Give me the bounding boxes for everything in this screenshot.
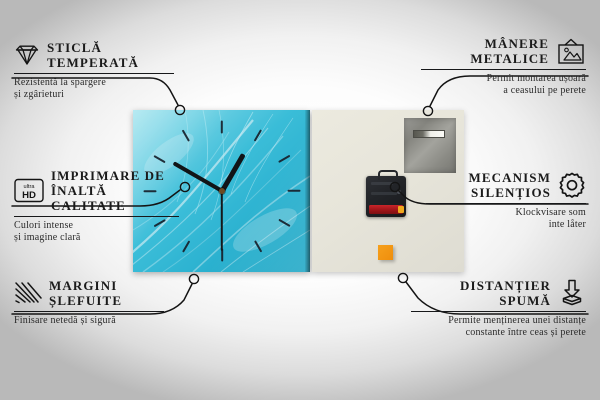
feature-imprimare-inalta-calitate: ultra HD IMPRIMARE DE ÎNALTĂ CALITATE Cu… xyxy=(14,168,179,245)
feature-divider xyxy=(14,216,179,217)
svg-text:HD: HD xyxy=(22,190,36,201)
feature-subtitle: Culori intense și imagine clară xyxy=(14,220,179,245)
feature-mecanism-silentios: MECANISM SILENȚIOS Klockvisare som inte … xyxy=(426,170,586,232)
feature-title: DISTANȚIER SPUMĂ xyxy=(460,278,551,308)
feature-divider xyxy=(14,311,164,312)
clock-center-cap xyxy=(219,188,225,194)
mechanism-detail-2 xyxy=(371,192,397,195)
feature-distantier-spuma: DISTANȚIER SPUMĂ Permite menținerea unei… xyxy=(411,278,586,340)
mechanism-hook-tab xyxy=(378,170,398,180)
hanger-slot xyxy=(413,130,445,138)
feature-header: ultra HD IMPRIMARE DE ÎNALTĂ CALITATE xyxy=(14,168,179,213)
feature-subtitle: Permit montarea ușoară a ceasului pe per… xyxy=(421,73,586,98)
feature-header: STICLĂ TEMPERATĂ xyxy=(14,40,174,70)
feature-sticla-temperata: STICLĂ TEMPERATĂ Rezistentă la spargere … xyxy=(14,40,174,102)
feature-divider xyxy=(426,203,586,204)
clock-right-edge-shadow xyxy=(305,110,310,272)
feature-header: MECANISM SILENȚIOS xyxy=(426,170,586,200)
battery xyxy=(369,205,403,214)
silent-movement-mechanism xyxy=(366,176,406,217)
mechanism-detail-3 xyxy=(397,190,401,194)
foam-spacer xyxy=(378,245,393,260)
feature-title: MARGINI ȘLEFUITE xyxy=(49,278,122,308)
feature-margini-slefuite: MARGINI ȘLEFUITE Finisare netedă și sigu… xyxy=(14,278,164,327)
feature-subtitle: Permite menținerea unei distanțe constan… xyxy=(411,315,586,340)
feature-header: MÂNERE METALICE xyxy=(421,36,586,66)
feature-divider xyxy=(411,311,586,312)
down-arrow-pad-icon xyxy=(558,279,586,307)
battery-plus-terminal xyxy=(398,206,404,213)
wall-mount-frame-icon xyxy=(556,38,586,65)
feature-title: MECANISM SILENȚIOS xyxy=(469,170,551,200)
feature-divider xyxy=(14,73,174,74)
gear-icon xyxy=(558,171,586,199)
feature-header: MARGINI ȘLEFUITE xyxy=(14,278,164,308)
metal-hanger-plate xyxy=(404,118,456,173)
feature-divider xyxy=(421,69,586,70)
hatched-edge-icon xyxy=(14,281,42,305)
mechanism-detail-1 xyxy=(371,182,393,185)
infographic-canvas: STICLĂ TEMPERATĂ Rezistentă la spargere … xyxy=(0,0,600,400)
feature-subtitle: Finisare netedă și sigură xyxy=(14,315,164,327)
feature-header: DISTANȚIER SPUMĂ xyxy=(411,278,586,308)
feature-title: STICLĂ TEMPERATĂ xyxy=(47,40,139,70)
feature-title: IMPRIMARE DE ÎNALTĂ CALITATE xyxy=(51,168,179,213)
feature-title: MÂNERE METALICE xyxy=(470,36,549,66)
feature-subtitle: Rezistentă la spargere și zgârieturi xyxy=(14,77,174,102)
feature-manere-metalice: MÂNERE METALICE Permit montarea ușoară a… xyxy=(421,36,586,98)
feature-subtitle: Klockvisare som inte låter xyxy=(426,207,586,232)
diamond-icon xyxy=(14,43,40,67)
ultra-hd-icon: ultra HD xyxy=(14,178,44,203)
clock-second-hand xyxy=(221,191,223,251)
